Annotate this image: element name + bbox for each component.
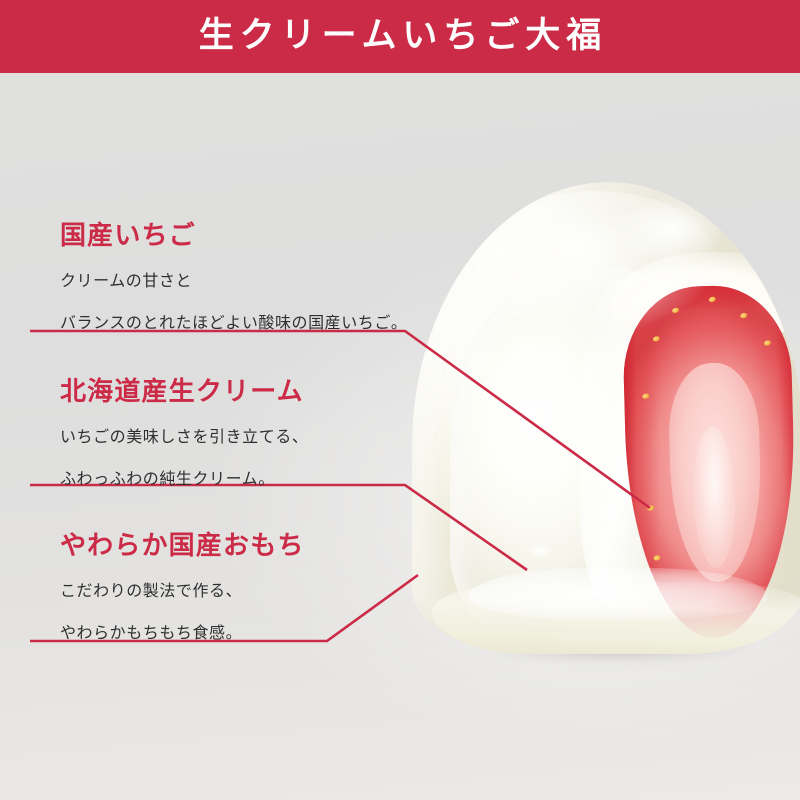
mochi-body	[412, 182, 800, 654]
feature-text-line: こだわりの製法で作る、	[60, 578, 305, 604]
feature-text-line: いちごの美味しさを引き立てる、	[60, 424, 308, 450]
feature-heading: やわらか国産おもち	[60, 532, 305, 562]
feature-text-line: クリームの甘さと	[60, 268, 407, 294]
mochi-bottom-cream	[468, 568, 768, 620]
feature-heading: 国産いちご	[60, 222, 407, 252]
feature-heading: 北海道産生クリーム	[60, 378, 308, 408]
feature-block-ichigo: 国産いちご クリームの甘さと バランスのとれたほどよい酸味の国産いちご。	[60, 222, 407, 352]
header-banner: 生クリームいちご大福	[0, 0, 800, 73]
mochi-specular-highlight	[616, 196, 726, 262]
promo-banner: 生クリームいちご大福	[0, 0, 800, 800]
page-title: 生クリームいちご大福	[193, 19, 607, 54]
product-image	[398, 176, 800, 676]
feature-text-line: やわらかもちもち食感。	[60, 620, 305, 646]
feature-text-line: ふわっふわの純生クリーム。	[60, 466, 308, 492]
feature-block-cream: 北海道産生クリーム いちごの美味しさを引き立てる、 ふわっふわの純生クリーム。	[60, 378, 308, 508]
feature-block-mochi: やわらか国産おもち こだわりの製法で作る、 やわらかもちもち食感。	[60, 532, 305, 662]
feature-text-line: バランスのとれたほどよい酸味の国産いちご。	[60, 310, 407, 336]
